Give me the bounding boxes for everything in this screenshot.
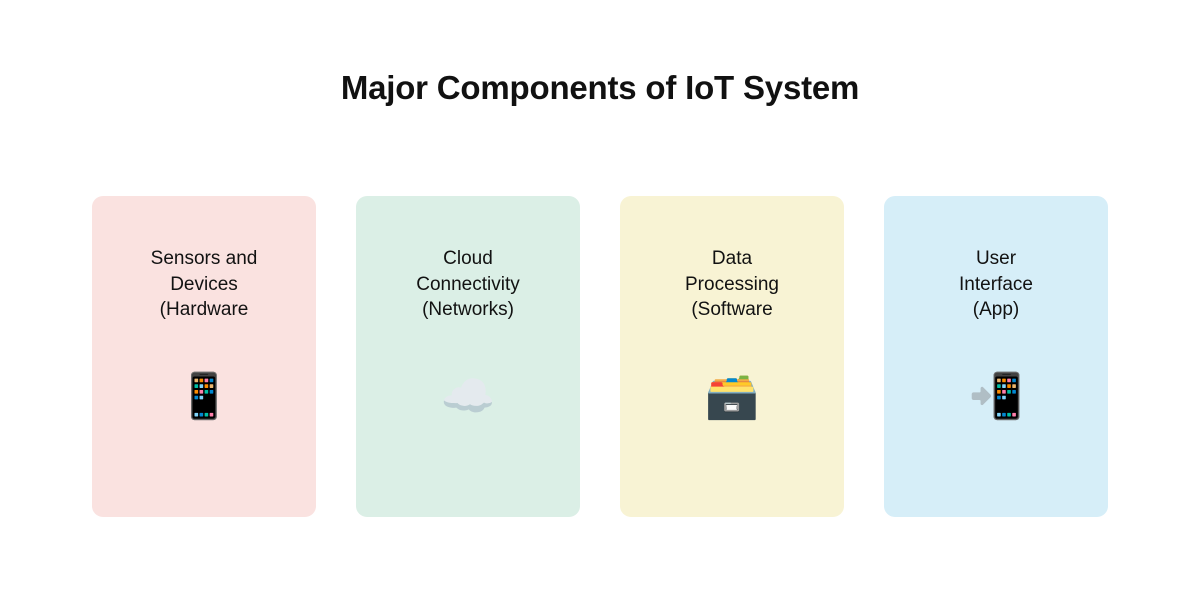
card-label: Sensors and Devices (Hardware xyxy=(104,246,304,323)
card-label: Data Processing (Software xyxy=(632,246,832,323)
mobile-phone-icon: 📱 xyxy=(92,371,316,423)
card-file-box-icon: 🗃️ xyxy=(620,371,844,423)
components-card-row: Sensors and Devices (Hardware 📱 Cloud Co… xyxy=(92,196,1108,517)
infographic-page: Major Components of IoT System Sensors a… xyxy=(0,0,1200,592)
page-title: Major Components of IoT System xyxy=(0,66,1200,110)
card-cloud-connectivity[interactable]: Cloud Connectivity (Networks) ☁️ xyxy=(356,196,580,517)
card-label: User Interface (App) xyxy=(896,246,1096,323)
card-user-interface[interactable]: User Interface (App) 📲 xyxy=(884,196,1108,517)
cloud-icon: ☁️ xyxy=(356,371,580,423)
card-sensors-and-devices[interactable]: Sensors and Devices (Hardware 📱 xyxy=(92,196,316,517)
card-label: Cloud Connectivity (Networks) xyxy=(368,246,568,323)
card-data-processing[interactable]: Data Processing (Software 🗃️ xyxy=(620,196,844,517)
mobile-phone-with-arrow-icon: 📲 xyxy=(884,371,1108,423)
